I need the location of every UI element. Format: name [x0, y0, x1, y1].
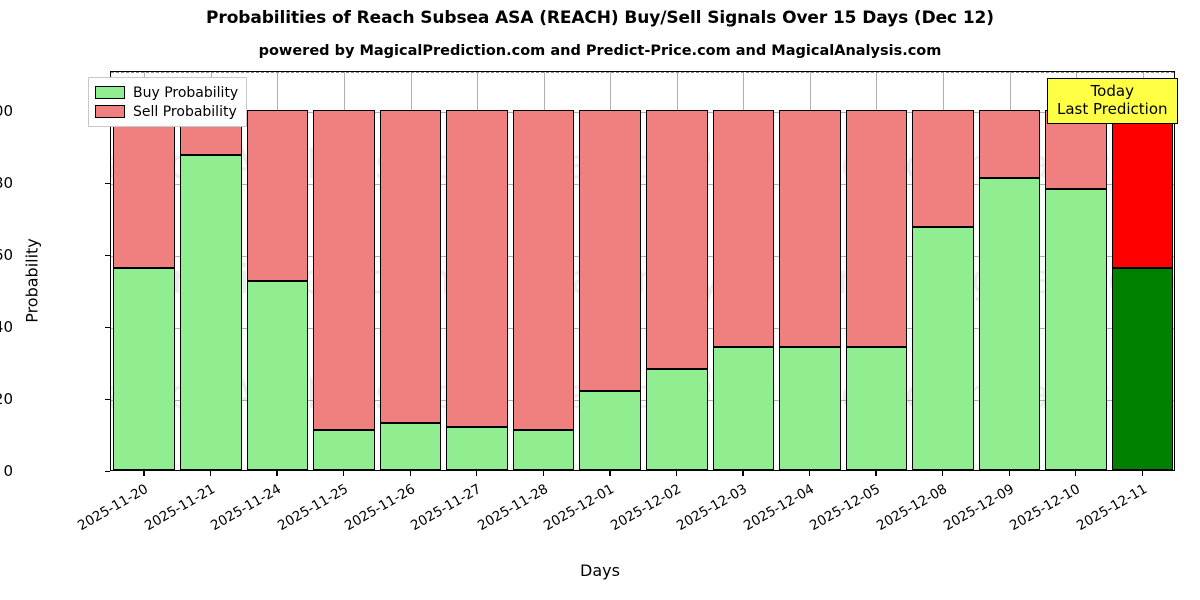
x-tick-mark	[343, 471, 344, 476]
x-axis-label: Days	[0, 561, 1200, 580]
chart-title: Probabilities of Reach Subsea ASA (REACH…	[0, 8, 1200, 28]
x-tick-mark	[942, 471, 943, 476]
bar-segment-buy[interactable]	[979, 178, 1041, 470]
bar-segment-buy[interactable]	[646, 369, 708, 470]
chart-figure: Probabilities of Reach Subsea ASA (REACH…	[0, 0, 1200, 600]
bar-group[interactable]	[513, 71, 575, 470]
x-tick-mark	[1009, 471, 1010, 476]
x-tick-mark	[609, 471, 610, 476]
bar-segment-buy[interactable]	[380, 423, 442, 470]
bar-group[interactable]	[713, 71, 775, 470]
legend-item-sell[interactable]: Sell Probability	[95, 102, 238, 121]
bar-segment-sell[interactable]	[579, 110, 641, 391]
bar-group[interactable]	[1112, 71, 1174, 470]
bar-segment-buy[interactable]	[313, 430, 375, 470]
legend-label-buy: Buy Probability	[133, 85, 238, 101]
bar-group[interactable]	[979, 71, 1041, 470]
x-tick-mark	[1142, 471, 1143, 476]
bar-segment-buy[interactable]	[247, 281, 309, 470]
bar-segment-sell[interactable]	[779, 110, 841, 348]
x-tick-mark	[410, 471, 411, 476]
x-tick-mark	[276, 471, 277, 476]
y-tick-label: 60	[0, 246, 13, 264]
bar-segment-buy[interactable]	[113, 268, 175, 470]
bar-segment-sell[interactable]	[113, 110, 175, 269]
bar-group[interactable]	[779, 71, 841, 470]
bar-segment-buy[interactable]	[180, 155, 242, 470]
bar-segment-sell[interactable]	[646, 110, 708, 369]
y-tick-mark	[105, 183, 110, 184]
bar-group[interactable]	[247, 71, 309, 470]
legend-swatch-buy	[95, 86, 125, 99]
y-tick-label: 20	[0, 390, 13, 408]
bar-segment-buy[interactable]	[513, 430, 575, 470]
bar-group[interactable]	[446, 71, 508, 470]
bar-segment-sell[interactable]	[313, 110, 375, 431]
today-annotation: Today Last Prediction	[1047, 78, 1178, 124]
today-reference-line	[111, 72, 1174, 73]
legend-label-sell: Sell Probability	[133, 104, 237, 120]
bar-group[interactable]	[646, 71, 708, 470]
x-tick-mark	[543, 471, 544, 476]
bar-group[interactable]	[579, 71, 641, 470]
y-tick-label: 0	[0, 462, 13, 480]
x-tick-mark	[742, 471, 743, 476]
today-annotation-line2: Last Prediction	[1057, 100, 1168, 118]
bar-group[interactable]	[1045, 71, 1107, 470]
bar-group[interactable]	[846, 71, 908, 470]
x-tick-mark	[875, 471, 876, 476]
bar-group[interactable]	[912, 71, 974, 470]
y-tick-label: 100	[0, 102, 13, 120]
bar-segment-sell[interactable]	[846, 110, 908, 348]
bar-segment-buy[interactable]	[713, 347, 775, 470]
bar-segment-buy[interactable]	[912, 227, 974, 470]
x-tick-mark	[1075, 471, 1076, 476]
plot-area: MagicalAnalysis.comMagicalPrediction.com…	[110, 71, 1175, 471]
y-tick-mark	[105, 471, 110, 472]
x-tick-mark	[476, 471, 477, 476]
bar-segment-sell[interactable]	[513, 110, 575, 431]
x-tick-mark	[210, 471, 211, 476]
legend-swatch-sell	[95, 105, 125, 118]
bar-segment-sell[interactable]	[912, 110, 974, 227]
bar-group[interactable]	[113, 71, 175, 470]
x-tick-mark	[809, 471, 810, 476]
y-tick-mark	[105, 255, 110, 256]
today-annotation-line1: Today	[1057, 82, 1168, 100]
bar-segment-sell[interactable]	[247, 110, 309, 281]
chart-subtitle: powered by MagicalPrediction.com and Pre…	[0, 43, 1200, 59]
bar-segment-sell[interactable]	[446, 110, 508, 427]
bar-segment-buy[interactable]	[446, 427, 508, 470]
y-tick-mark	[105, 327, 110, 328]
bar-segment-sell[interactable]	[380, 110, 442, 424]
y-axis-label: Probability	[23, 131, 42, 431]
bar-segment-sell[interactable]	[979, 110, 1041, 178]
bar-segment-buy[interactable]	[1045, 189, 1107, 470]
x-tick-mark	[143, 471, 144, 476]
bar-segment-buy[interactable]	[1112, 268, 1174, 470]
bar-segment-buy[interactable]	[846, 347, 908, 470]
bar-segment-sell[interactable]	[1112, 110, 1174, 269]
bar-segment-buy[interactable]	[779, 347, 841, 470]
bar-segment-sell[interactable]	[713, 110, 775, 348]
legend-item-buy[interactable]: Buy Probability	[95, 83, 238, 102]
y-tick-mark	[105, 399, 110, 400]
bar-segment-buy[interactable]	[579, 391, 641, 470]
chart-legend: Buy Probability Sell Probability	[88, 77, 247, 127]
x-tick-mark	[676, 471, 677, 476]
bar-group[interactable]	[313, 71, 375, 470]
bar-group[interactable]	[180, 71, 242, 470]
y-tick-label: 80	[0, 174, 13, 192]
y-tick-label: 40	[0, 318, 13, 336]
bar-group[interactable]	[380, 71, 442, 470]
